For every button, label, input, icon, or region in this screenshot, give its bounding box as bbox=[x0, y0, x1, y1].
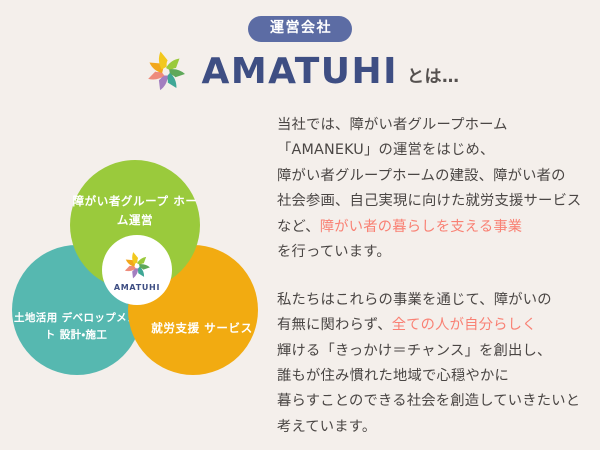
copy-line: 当社では、障がい者グループホーム bbox=[277, 113, 593, 138]
copy-line: 私たちはこれらの事業を通じて、障がいの bbox=[277, 288, 593, 313]
copy-line: 有無に関わらず、全ての人が自分らしく bbox=[277, 313, 593, 338]
about-paragraph-1: 当社では、障がい者グループホーム「AMANEKU」の運営をはじめ、障がい者グルー… bbox=[277, 113, 593, 266]
copy-text: 私たちはこれらの事業を通じて、障がいの bbox=[277, 292, 552, 308]
copy-text: 暮らすことのできる社会を創造していきたいと bbox=[277, 393, 580, 409]
about-copy: 当社では、障がい者グループホーム「AMANEKU」の運営をはじめ、障がい者グルー… bbox=[277, 113, 593, 440]
copy-line: など、障がい者の暮らしを支える事業 bbox=[277, 215, 593, 240]
copy-line: 障がい者グループホームの建設、障がい者の bbox=[277, 164, 593, 189]
amatuhi-pinwheel-logo-icon-small bbox=[119, 249, 155, 284]
copy-text: 誰もが住み慣れた地域で心穏やかに bbox=[277, 368, 509, 384]
copy-text: 障がい者グループホームの建設、障がい者の bbox=[277, 168, 566, 184]
copy-line: を行っています。 bbox=[277, 240, 593, 265]
about-paragraph-2: 私たちはこれらの事業を通じて、障がいの有無に関わらず、全ての人が自分らしく輝ける… bbox=[277, 288, 593, 441]
company-category-badge: 運営会社 bbox=[248, 16, 352, 42]
copy-line: 社会参画、自己実現に向けた就労支援サービス bbox=[277, 189, 593, 214]
copy-text: 輝ける「きっかけ＝チャンス」を創出し、 bbox=[277, 343, 551, 359]
page-title: AMATUHI とは… bbox=[0, 47, 600, 97]
copy-text: 社会参画、自己実現に向けた就労支援サービス bbox=[277, 193, 581, 209]
copy-text: 有無に関わらず、 bbox=[277, 317, 392, 333]
copy-text: など、 bbox=[277, 219, 320, 235]
copy-line: 「AMANEKU」の運営をはじめ、 bbox=[277, 138, 593, 163]
venn-circle-group-home-label: 障がい者グループ ホーム運営 bbox=[70, 192, 200, 230]
copy-text: 考えています。 bbox=[277, 419, 376, 435]
venn-circle-land-development-label: 土地活用 デベロップメント 設計・施工 bbox=[11, 310, 141, 344]
copy-line: 輝ける「きっかけ＝チャンス」を創出し、 bbox=[277, 339, 593, 364]
copy-text: を行っています。 bbox=[277, 244, 391, 260]
copy-highlight: 全ての人が自分らしく bbox=[392, 317, 537, 333]
business-venn-diagram: 障がい者グループ ホーム運営 土地活用 デベロップメント 設計・施工 就労支援 … bbox=[10, 160, 260, 385]
paragraph-spacer bbox=[277, 266, 593, 288]
copy-line: 暮らすことのできる社会を創造していきたいと bbox=[277, 389, 593, 414]
copy-line: 考えています。 bbox=[277, 415, 593, 440]
copy-highlight: 障がい者の暮らしを支える事業 bbox=[320, 219, 523, 235]
copy-text: 当社では、障がい者グループホーム bbox=[277, 117, 508, 133]
copy-line: 誰もが住み慣れた地域で心穏やかに bbox=[277, 364, 593, 389]
title-suffix: とは… bbox=[407, 59, 460, 86]
venn-circle-employment-support-label: 就労支援 サービス bbox=[151, 319, 252, 339]
amatuhi-pinwheel-logo-icon bbox=[140, 47, 192, 97]
badge-row: 運営会社 bbox=[0, 16, 600, 42]
venn-center-brand-name: AMATUHI bbox=[114, 284, 160, 292]
venn-center-brand: AMATUHI bbox=[102, 235, 172, 305]
copy-text: 「AMANEKU」の運営をはじめ、 bbox=[277, 142, 494, 158]
brand-name: AMATUHI bbox=[201, 54, 398, 90]
